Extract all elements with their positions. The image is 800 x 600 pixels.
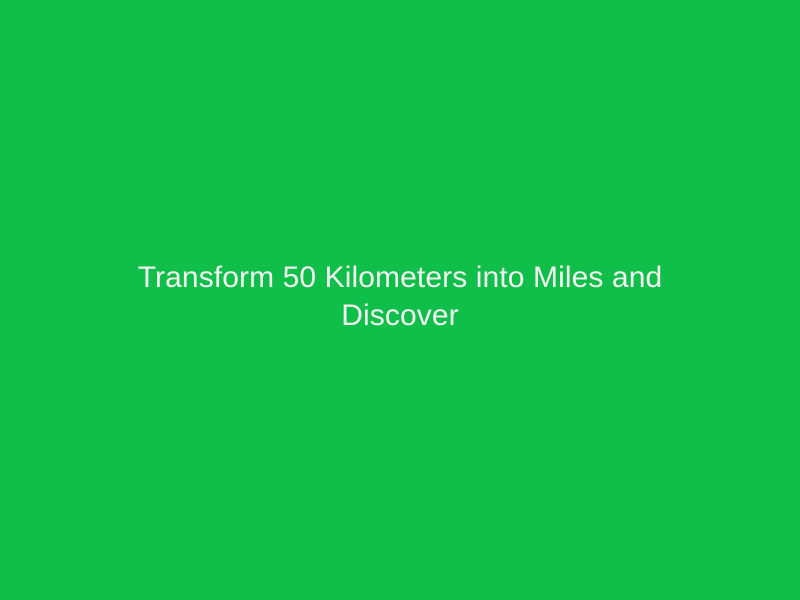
hero-banner: Transform 50 Kilometers into Miles and D… — [0, 0, 800, 600]
page-title: Transform 50 Kilometers into Miles and D… — [100, 259, 700, 335]
hero-title-block: Transform 50 Kilometers into Miles and D… — [100, 259, 700, 335]
